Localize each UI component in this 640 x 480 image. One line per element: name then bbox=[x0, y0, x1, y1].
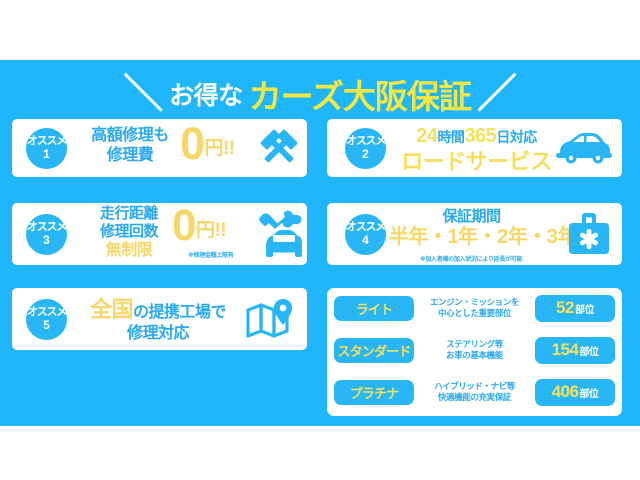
feature-2-line1: 24時間365日対応 bbox=[399, 126, 554, 148]
feature-4-note: ※加入者様の加入状況により延長が可能 bbox=[401, 254, 541, 263]
badge-label: オススメ bbox=[346, 136, 385, 147]
feature-2-text: 24時間365日対応 ロードサービス bbox=[399, 126, 554, 173]
plan-desc-line1: エンジン・ミッションを bbox=[414, 297, 535, 308]
plan-count-number: 406 bbox=[552, 382, 579, 402]
days-unit: 日対応 bbox=[496, 129, 537, 145]
plan-row-light[interactable]: ライト エンジン・ミッションを 中心とした重要部位 52部位 bbox=[327, 290, 622, 326]
plan-desc-line2: お車の基本機能 bbox=[414, 350, 535, 361]
plan-table: ライト エンジン・ミッションを 中心とした重要部位 52部位 スタンダード ステ… bbox=[327, 288, 622, 416]
plan-count-unit: 部位 bbox=[579, 385, 598, 400]
badge-number: 1 bbox=[43, 148, 50, 160]
badge-number: 3 bbox=[43, 234, 50, 246]
feature-1-line2: 修理費 bbox=[84, 147, 176, 164]
hours-number: 24 bbox=[416, 125, 437, 147]
feature-3-price: 0 円!! bbox=[172, 205, 226, 247]
plan-row-standard[interactable]: スタンダード ステアリング等 お車の基本機能 154部位 bbox=[327, 332, 622, 368]
price-unit: 円!! bbox=[196, 221, 226, 242]
feature-card-2: オススメ 2 24時間365日対応 ロードサービス bbox=[327, 119, 622, 177]
badge-label: オススメ bbox=[27, 222, 66, 233]
plan-count-number: 154 bbox=[552, 340, 579, 360]
plan-desc-line2: 中心とした重要部位 bbox=[414, 308, 535, 319]
plan-name-pill[interactable]: プラチナ bbox=[334, 380, 414, 405]
recommend-badge-4: オススメ 4 bbox=[345, 214, 386, 255]
screenshot-root: ＼ お得な カーズ大阪保証 ／ オススメ 1 高額修理も 修理費 0 円!! bbox=[0, 0, 640, 480]
plan-desc-line2: 快適機能の充実保証 bbox=[414, 392, 535, 403]
badge-label: オススメ bbox=[27, 307, 66, 318]
feature-5-line1: 全国の提携工場で bbox=[78, 298, 238, 322]
feature-card-4: オススメ 4 保証期間 半年・1年・2年・3年 ※加入者様の加入状況により延長が… bbox=[327, 203, 622, 265]
map-pin-icon bbox=[244, 297, 298, 341]
plan-description: ハイブリッド・ナビ等 快適機能の充実保証 bbox=[414, 381, 535, 402]
feature-4-line2: 半年・1年・2年・3年 bbox=[389, 227, 554, 249]
badge-label: オススメ bbox=[346, 222, 385, 233]
feature-card-3: オススメ 3 走行距離 修理回数 無制限 0 円!! ※修理金額上限有 bbox=[12, 203, 307, 265]
feature-5-line2: 修理対応 bbox=[78, 325, 238, 342]
plan-desc-line1: ハイブリッド・ナビ等 bbox=[414, 381, 535, 392]
plan-description: ステアリング等 お車の基本機能 bbox=[414, 339, 535, 360]
price-number: 0 bbox=[180, 123, 205, 166]
banner-title: ＼ お得な カーズ大阪保証 ／ bbox=[0, 72, 640, 116]
plan-desc-line1: ステアリング等 bbox=[414, 339, 535, 350]
title-brand-text: カーズ大阪保証 bbox=[249, 70, 471, 118]
feature-3-text: 走行距離 修理回数 無制限 bbox=[90, 206, 168, 260]
badge-label: オススメ bbox=[27, 136, 66, 147]
badge-number: 2 bbox=[362, 148, 369, 160]
feature-4-line1: 保証期間 bbox=[389, 209, 554, 225]
price-number: 0 bbox=[172, 205, 196, 247]
plan-description: エンジン・ミッションを 中心とした重要部位 bbox=[414, 297, 535, 318]
feature-2-line2: ロードサービス bbox=[399, 150, 554, 174]
plan-count-pill: 406部位 bbox=[535, 379, 615, 406]
recommend-badge-2: オススメ 2 bbox=[345, 128, 386, 169]
recommend-badge-1: オススメ 1 bbox=[26, 128, 67, 169]
plan-name-pill[interactable]: スタンダード bbox=[334, 338, 414, 363]
toolbox-icon bbox=[565, 211, 613, 257]
badge-number: 4 bbox=[362, 234, 369, 246]
car-wrench-icon bbox=[256, 209, 304, 259]
feature-3-line2: 修理回数 bbox=[90, 224, 168, 240]
plan-count-unit: 部位 bbox=[579, 343, 598, 358]
feature-1-text: 高額修理も 修理費 bbox=[84, 127, 176, 165]
price-unit: 円!! bbox=[205, 139, 235, 160]
plan-count-unit: 部位 bbox=[575, 301, 594, 316]
hours-unit: 時間 bbox=[437, 129, 464, 145]
feature-1-price: 0 円!! bbox=[180, 123, 235, 166]
crossed-hammers-icon bbox=[256, 125, 302, 171]
feature-card-1: オススメ 1 高額修理も 修理費 0 円!! bbox=[12, 119, 307, 177]
slash-right-decoration: ／ bbox=[477, 74, 517, 114]
plan-count-number: 52 bbox=[556, 298, 574, 318]
car-side-icon bbox=[555, 129, 613, 167]
badge-number: 5 bbox=[43, 319, 50, 331]
recommend-badge-5: オススメ 5 bbox=[26, 299, 67, 340]
plan-name-pill[interactable]: ライト bbox=[334, 296, 414, 321]
days-number: 365 bbox=[464, 125, 496, 147]
feature-4-text: 保証期間 半年・1年・2年・3年 bbox=[389, 209, 554, 249]
feature-3-note: ※修理金額上限有 bbox=[188, 250, 233, 259]
slash-left-decoration: ＼ bbox=[123, 74, 163, 114]
plan-count-pill: 154部位 bbox=[535, 337, 615, 364]
feature-1-line1: 高額修理も bbox=[84, 127, 176, 144]
title-lead-text: お得な bbox=[169, 76, 243, 112]
feature-5-text: 全国の提携工場で 修理対応 bbox=[78, 298, 238, 342]
nationwide-highlight: 全国 bbox=[90, 297, 133, 322]
feature-3-line3: 無制限 bbox=[90, 242, 168, 259]
plan-row-platinum[interactable]: プラチナ ハイブリッド・ナビ等 快適機能の充実保証 406部位 bbox=[327, 374, 622, 410]
feature-5-line1-rest: の提携工場で bbox=[133, 304, 226, 321]
feature-card-5: オススメ 5 全国の提携工場で 修理対応 bbox=[12, 288, 307, 350]
plan-count-pill: 52部位 bbox=[535, 295, 615, 322]
recommend-badge-3: オススメ 3 bbox=[26, 214, 67, 255]
feature-3-line1: 走行距離 bbox=[90, 206, 168, 222]
warranty-banner: ＼ お得な カーズ大阪保証 ／ オススメ 1 高額修理も 修理費 0 円!! bbox=[0, 60, 640, 426]
